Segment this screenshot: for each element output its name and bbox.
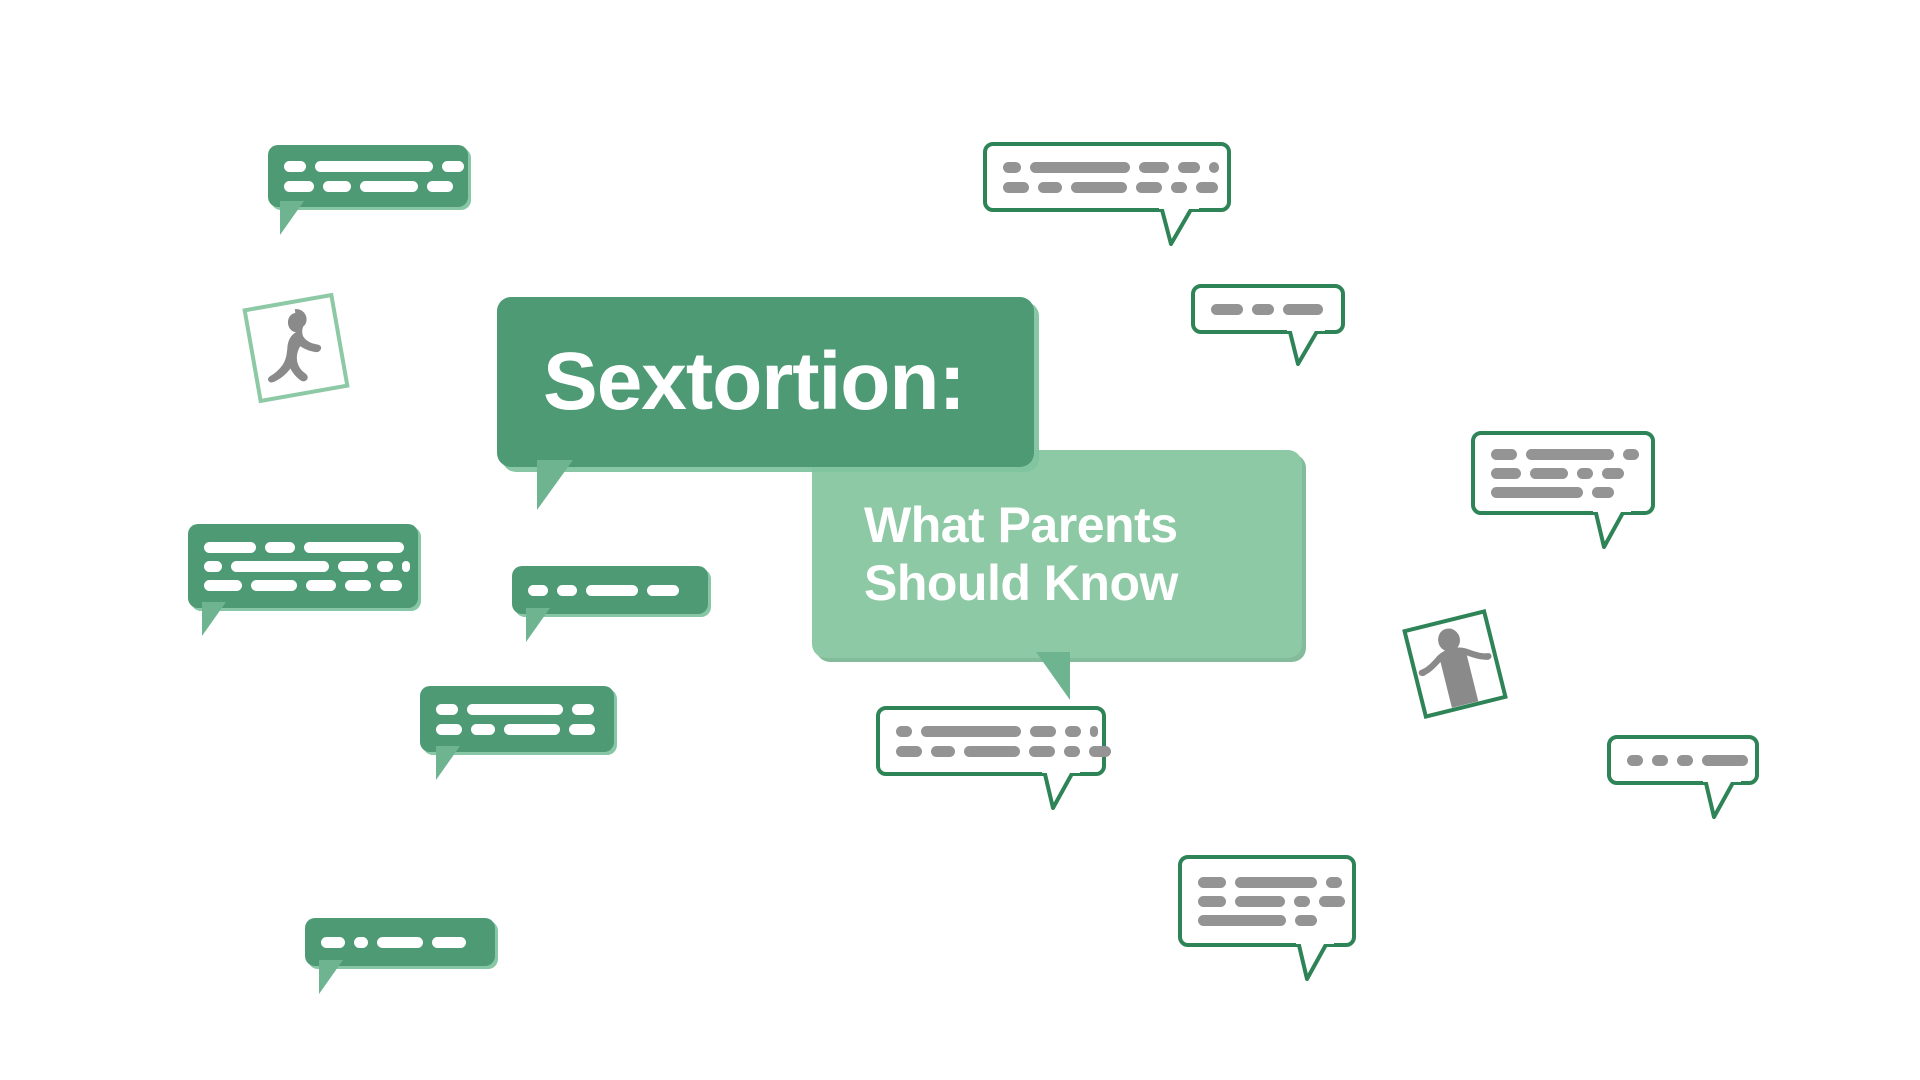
- text-bar: [377, 937, 423, 948]
- text-bar: [284, 181, 314, 192]
- photo-image: [1407, 614, 1503, 714]
- bubble-text-row: [1003, 162, 1211, 173]
- text-bar: [360, 181, 418, 192]
- bubble-text-row: [436, 704, 598, 715]
- text-bar: [1003, 182, 1029, 193]
- bubble-tail-icon: [202, 602, 226, 636]
- chat-bubble-outline: [1191, 284, 1345, 334]
- text-bar: [380, 580, 402, 591]
- text-bar: [1198, 877, 1226, 888]
- chat-bubble-filled: [188, 524, 418, 608]
- text-bar: [345, 580, 371, 591]
- bubble-body: [420, 686, 614, 752]
- title-bubble-subtitle: What Parents Should Know: [812, 450, 1302, 658]
- text-bar: [1071, 182, 1127, 193]
- text-bar: [1627, 755, 1643, 766]
- text-bar: [284, 161, 306, 172]
- bubble-text-row: [204, 542, 402, 553]
- text-bar: [504, 724, 560, 735]
- text-bar: [1178, 162, 1200, 173]
- text-bar: [1064, 746, 1080, 757]
- text-bar: [557, 585, 577, 596]
- text-bar: [321, 937, 345, 948]
- bubble-text-row: [284, 181, 452, 192]
- bubble-text-row: [1491, 449, 1635, 460]
- text-bar: [1029, 746, 1055, 757]
- person-silhouette-icon: [247, 297, 345, 398]
- bubble-text-row: [1198, 877, 1336, 888]
- bubble-body: [268, 145, 468, 207]
- text-bar: [265, 542, 295, 553]
- subtitle-bubble-body: What Parents Should Know: [812, 450, 1302, 658]
- page-title: Sextortion:: [543, 341, 1034, 423]
- text-bar: [896, 726, 912, 737]
- text-bar: [315, 161, 433, 172]
- text-bar: [1139, 162, 1169, 173]
- chat-bubble-outline: [1471, 431, 1655, 515]
- text-bar: [427, 181, 453, 192]
- text-bar: [1198, 896, 1226, 907]
- text-bar: [323, 181, 351, 192]
- poster-canvas: What Parents Should Know Sextortion:: [0, 0, 1920, 1080]
- text-bar: [471, 724, 495, 735]
- chat-bubble-filled: [420, 686, 614, 752]
- photo-frame-standing-person: [1402, 609, 1508, 719]
- text-bar: [1602, 468, 1624, 479]
- text-bar: [251, 580, 297, 591]
- person-arms-up-silhouette-icon: [1407, 614, 1503, 714]
- bubble-text-row: [1491, 487, 1635, 498]
- photo-image: [247, 297, 345, 398]
- text-bar: [204, 542, 256, 553]
- text-bar: [338, 561, 368, 572]
- text-bar: [1577, 468, 1593, 479]
- text-bar: [1065, 726, 1081, 737]
- bubble-body: [1471, 431, 1655, 515]
- bubble-tail-icon: [1593, 507, 1631, 549]
- text-bar: [647, 585, 679, 596]
- bubble-text-row: [1198, 915, 1336, 926]
- text-bar: [354, 937, 368, 948]
- subtitle-line-2: Should Know: [864, 554, 1302, 613]
- bubble-text-row: [1211, 304, 1325, 315]
- text-bar: [1295, 915, 1317, 926]
- text-bar: [436, 724, 462, 735]
- chat-bubble-outline: [983, 142, 1231, 212]
- text-bar: [1030, 726, 1056, 737]
- text-bar: [1491, 487, 1583, 498]
- bubble-tail-icon: [1296, 939, 1334, 981]
- text-bar: [931, 746, 955, 757]
- text-bar: [1171, 182, 1187, 193]
- text-bar: [1089, 746, 1111, 757]
- text-bar: [1319, 896, 1345, 907]
- bubble-text-row: [896, 746, 1086, 757]
- text-bar: [231, 561, 329, 572]
- bubble-body: [876, 706, 1106, 776]
- bubble-body: [305, 918, 495, 966]
- chat-bubble-outline: [1178, 855, 1356, 947]
- text-bar: [377, 561, 393, 572]
- text-bar: [1652, 755, 1668, 766]
- bubble-tail-icon: [1042, 768, 1080, 810]
- text-bar: [1038, 182, 1062, 193]
- bubble-text-row: [1198, 896, 1336, 907]
- text-bar: [1326, 877, 1342, 888]
- bubble-text-row: [204, 561, 402, 572]
- bubble-tail-icon: [280, 201, 304, 235]
- text-bar: [921, 726, 1021, 737]
- title-bubble-main: Sextortion:: [497, 297, 1034, 467]
- bubble-tail-icon: [1159, 204, 1199, 246]
- text-bar: [1294, 896, 1310, 907]
- text-bar: [528, 585, 548, 596]
- chat-bubble-filled: [268, 145, 468, 207]
- text-bar: [1209, 162, 1219, 173]
- bubble-text-row: [321, 937, 479, 948]
- bubble-body: [983, 142, 1231, 212]
- text-bar: [1491, 449, 1517, 460]
- bubble-body: [512, 566, 708, 614]
- text-bar: [1526, 449, 1614, 460]
- chat-bubble-filled: [305, 918, 495, 966]
- text-bar: [1702, 755, 1748, 766]
- text-bar: [1623, 449, 1639, 460]
- text-bar: [1003, 162, 1021, 173]
- text-bar: [1491, 468, 1521, 479]
- text-bar: [467, 704, 563, 715]
- text-bar: [1677, 755, 1693, 766]
- text-bar: [204, 561, 222, 572]
- text-bar: [1196, 182, 1218, 193]
- bubble-text-row: [284, 161, 452, 172]
- text-bar: [1592, 487, 1614, 498]
- bubble-body: [188, 524, 418, 608]
- text-bar: [1090, 726, 1098, 737]
- bubble-body: [1178, 855, 1356, 947]
- main-title-bubble-tail-icon: [537, 460, 573, 510]
- text-bar: [896, 746, 922, 757]
- text-bar: [964, 746, 1020, 757]
- text-bar: [204, 580, 242, 591]
- photo-frame-seated-person: [242, 293, 349, 404]
- bubble-tail-icon: [319, 960, 343, 994]
- bubble-text-row: [896, 726, 1086, 737]
- text-bar: [1235, 877, 1317, 888]
- text-bar: [1283, 304, 1323, 315]
- bubble-text-row: [1627, 755, 1739, 766]
- bubble-text-row: [1003, 182, 1211, 193]
- text-bar: [436, 704, 458, 715]
- text-bar: [1211, 304, 1243, 315]
- text-bar: [402, 561, 410, 572]
- text-bar: [572, 704, 594, 715]
- bubble-text-row: [1491, 468, 1635, 479]
- text-bar: [1198, 915, 1286, 926]
- bubble-tail-icon: [436, 746, 460, 780]
- text-bar: [306, 580, 336, 591]
- text-bar: [442, 161, 464, 172]
- bubble-text-row: [204, 580, 402, 591]
- text-bar: [1252, 304, 1274, 315]
- text-bar: [1530, 468, 1568, 479]
- chat-bubble-filled: [512, 566, 708, 614]
- subtitle-bubble-tail-icon: [1036, 652, 1070, 700]
- text-bar: [586, 585, 638, 596]
- text-bar: [304, 542, 404, 553]
- bubble-tail-icon: [1703, 777, 1741, 819]
- chat-bubble-outline: [876, 706, 1106, 776]
- bubble-text-row: [436, 724, 598, 735]
- main-title-bubble-body: Sextortion:: [497, 297, 1034, 467]
- text-bar: [432, 937, 466, 948]
- bubble-text-row: [528, 585, 692, 596]
- text-bar: [1235, 896, 1285, 907]
- text-bar: [1030, 162, 1130, 173]
- subtitle-line-1: What Parents: [864, 496, 1302, 555]
- chat-bubble-outline: [1607, 735, 1759, 785]
- text-bar: [1136, 182, 1162, 193]
- bubble-tail-icon: [1287, 326, 1325, 366]
- text-bar: [569, 724, 595, 735]
- bubble-tail-icon: [526, 608, 550, 642]
